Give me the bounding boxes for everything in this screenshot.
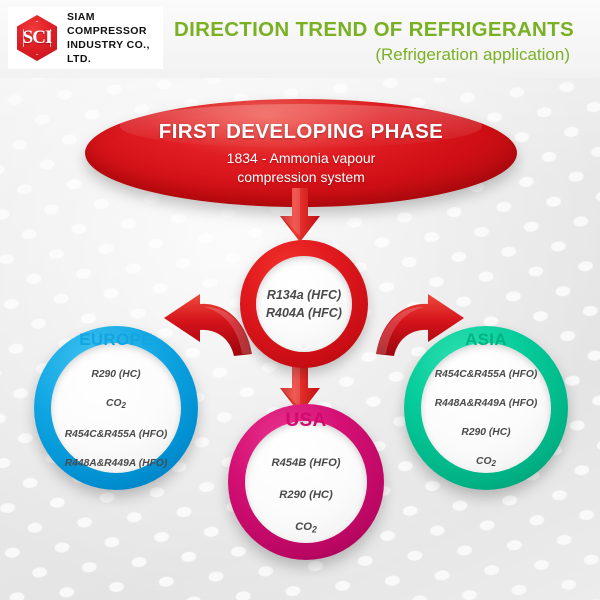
sci-hexagon-icon: SCI: [17, 15, 57, 61]
asia-circle-inner: ASIA R454C&R455A (HFO) R448A&R449A (HFO)…: [421, 343, 551, 473]
list-item: R454B (HFO): [272, 455, 341, 471]
arrow-phase-to-center-icon: [272, 188, 328, 248]
infographic-canvas: SCI SIAM COMPRESSOR INDUSTRY CO., LTD. D…: [0, 0, 600, 600]
logo-letters: SCI: [17, 15, 57, 61]
list-item: CO2: [272, 519, 341, 537]
region-refrigerant-list-europe: R290 (HC) CO2 R454C&R455A (HFO) R448A&R4…: [65, 354, 168, 487]
list-item: R454C&R455A (HFO): [435, 368, 538, 383]
page-title: DIRECTION TREND OF REFRIGERANTS: [164, 18, 584, 42]
region-node-europe: EUROPE R290 (HC) CO2 R454C&R455A (HFO) R…: [34, 326, 198, 490]
company-name: SIAM COMPRESSOR INDUSTRY CO., LTD.: [67, 10, 163, 66]
usa-circle-inner: USA R454B (HFO) R290 (HC) CO2: [245, 421, 367, 543]
list-item: R454C&R455A (HFO): [65, 428, 168, 443]
page-subtitle: (Refrigeration application): [164, 44, 584, 66]
region-refrigerant-list-usa: R454B (HFO) R290 (HC) CO2: [272, 439, 341, 553]
phase-title: FIRST DEVELOPING PHASE: [159, 120, 443, 144]
europe-circle-inner: EUROPE R290 (HC) CO2 R454C&R455A (HFO) R…: [51, 343, 181, 473]
list-item: CO2: [435, 455, 538, 472]
region-refrigerant-list-asia: R454C&R455A (HFO) R448A&R449A (HFO) R290…: [435, 354, 538, 487]
center-circle-inner: R134a (HFC) R404A (HFC): [256, 256, 352, 352]
list-item: R290 (HC): [65, 368, 168, 383]
list-item: R448A&R449A (HFO): [435, 397, 538, 412]
header-band: SCI SIAM COMPRESSOR INDUSTRY CO., LTD. D…: [0, 0, 600, 78]
region-label-usa: USA: [285, 410, 326, 432]
region-label-asia: ASIA: [465, 330, 507, 350]
phase-description: 1834 - Ammonia vapour compression system: [227, 149, 376, 187]
region-node-usa: USA R454B (HFO) R290 (HC) CO2: [228, 404, 384, 560]
list-item: CO2: [65, 397, 168, 414]
title-block: DIRECTION TREND OF REFRIGERANTS (Refrige…: [164, 18, 584, 66]
company-logo: SCI SIAM COMPRESSOR INDUSTRY CO., LTD.: [8, 7, 163, 69]
center-refrigerant-list: R134a (HFC) R404A (HFC): [266, 286, 342, 322]
region-node-asia: ASIA R454C&R455A (HFO) R448A&R449A (HFO)…: [404, 326, 568, 490]
center-refrigerant-node: R134a (HFC) R404A (HFC): [240, 240, 368, 368]
list-item: R290 (HC): [272, 487, 341, 503]
list-item: R290 (HC): [435, 426, 538, 441]
region-label-europe: EUROPE: [79, 330, 153, 350]
list-item: R448A&R449A (HFO): [65, 457, 168, 472]
